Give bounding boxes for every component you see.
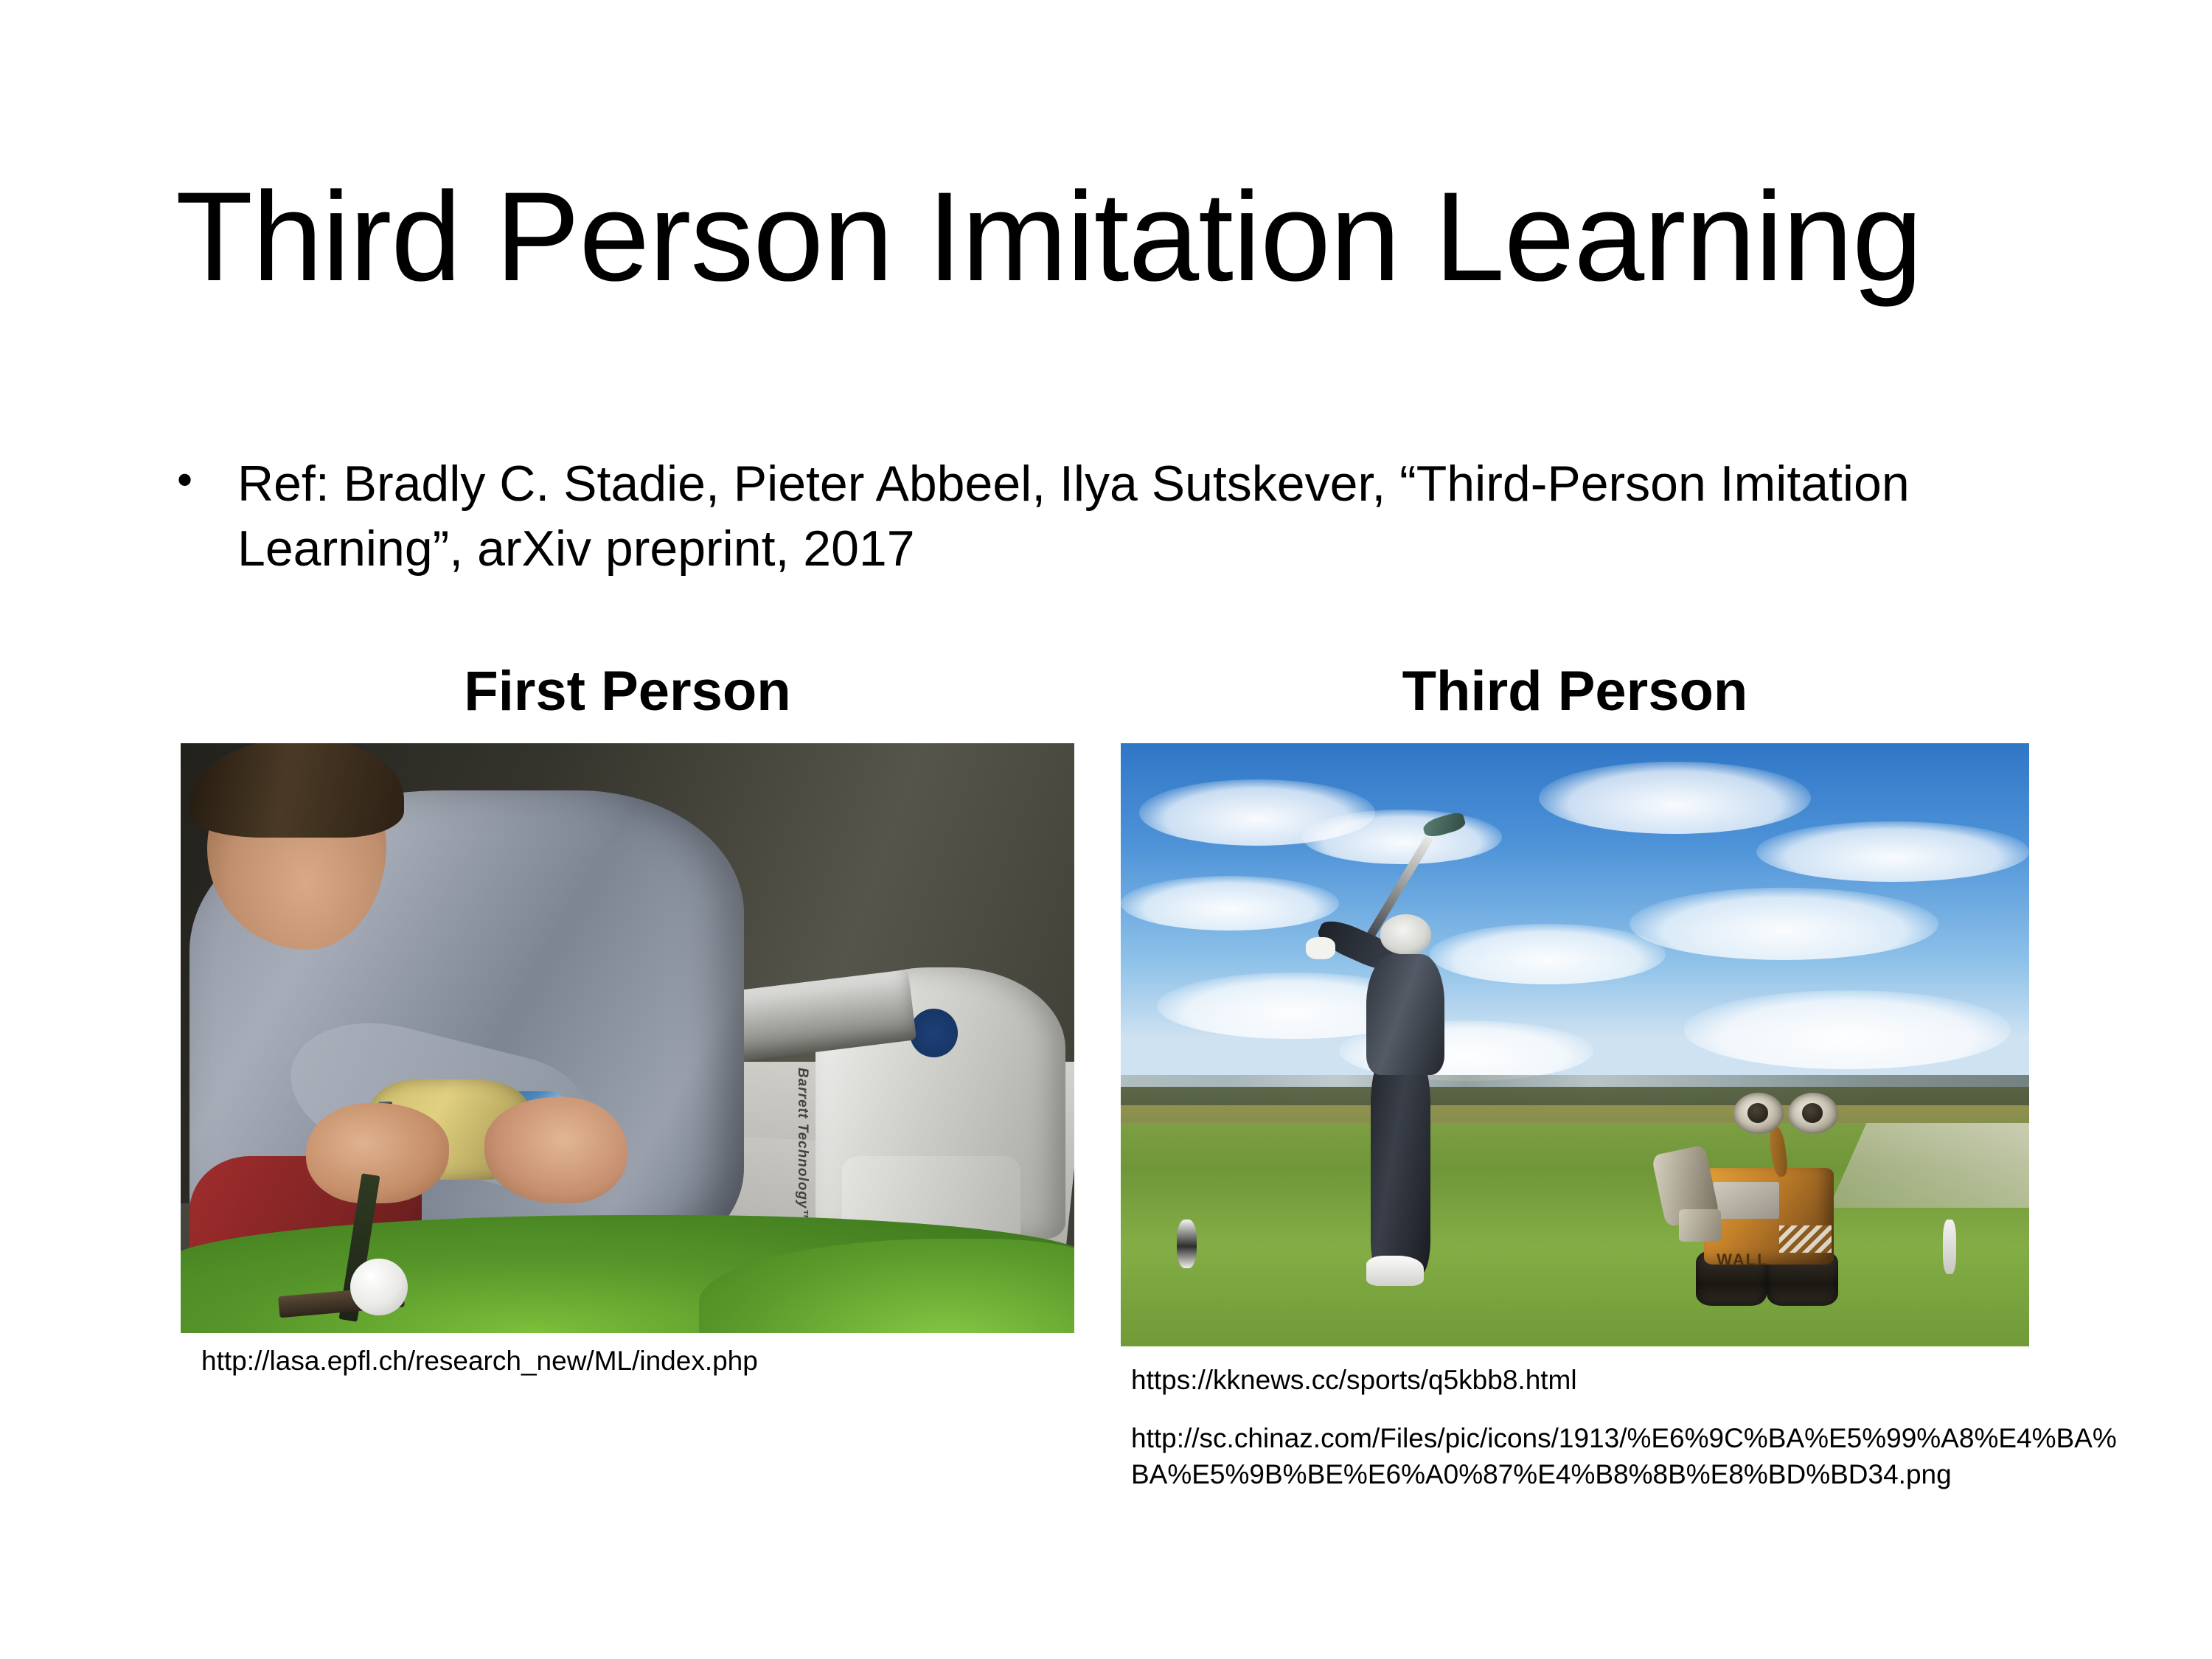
cloud (1302, 810, 1502, 864)
golfer-torso (1366, 954, 1444, 1075)
cloud (1630, 888, 1938, 960)
tee-marker-right (1943, 1220, 1956, 1274)
cloud (1539, 762, 1812, 834)
cloud (1121, 876, 1339, 931)
walle-pupil (1802, 1103, 1823, 1123)
walle-eye-right (1788, 1093, 1838, 1134)
page-title: Third Person Imitation Learning (175, 166, 2063, 308)
walle-body-label: WALL (1717, 1251, 1768, 1270)
golfer-head-and-cap (1380, 914, 1431, 954)
third-person-source-caption-2: http://sc.chinaz.com/Files/pic/icons/191… (1121, 1421, 2119, 1493)
bullet-list: • Ref: Bradly C. Stadie, Pieter Abbeel, … (171, 451, 2029, 582)
third-person-source-caption-1: https://kknews.cc/sports/q5kbb8.html (1121, 1363, 2029, 1399)
cloud (1756, 821, 2029, 882)
person-right-hand (484, 1097, 627, 1203)
third-person-heading: Third Person (1121, 664, 2029, 727)
tee-marker-left (1177, 1220, 1197, 1267)
bullet-marker-icon: • (171, 451, 237, 509)
third-person-photo: WALL (1121, 743, 2029, 1346)
golfer-shoe (1366, 1256, 1425, 1286)
walle-robot: WALL (1675, 1081, 1884, 1310)
walle-hand (1679, 1209, 1721, 1242)
cloud (1430, 924, 1666, 984)
barrett-logo-icon (910, 1009, 958, 1057)
cloud (1684, 990, 2011, 1068)
walle-pupil (1747, 1103, 1769, 1123)
first-person-heading: First Person (181, 664, 1074, 727)
walle-eye-left (1733, 1093, 1784, 1134)
first-person-photo: Barrett Technology™ Inc. (181, 743, 1074, 1333)
golfer-glove (1306, 937, 1335, 959)
walle-eyes (1733, 1093, 1838, 1134)
first-person-source-caption: http://lasa.epfl.ch/research_new/ML/inde… (181, 1343, 1074, 1380)
list-item: • Ref: Bradly C. Stadie, Pieter Abbeel, … (171, 451, 2029, 582)
person-hair (189, 743, 404, 838)
third-person-column: Third Person WA (1121, 664, 2029, 1492)
golfer-legs (1371, 1057, 1430, 1273)
walle-hazard-stripe (1779, 1225, 1832, 1253)
golf-ball (350, 1259, 408, 1315)
first-person-column: First Person Barrett Technology™ Inc. ht… (181, 664, 1074, 1380)
reference-text: Ref: Bradly C. Stadie, Pieter Abbeel, Il… (237, 451, 1926, 582)
walle-front-panel (1713, 1182, 1780, 1219)
